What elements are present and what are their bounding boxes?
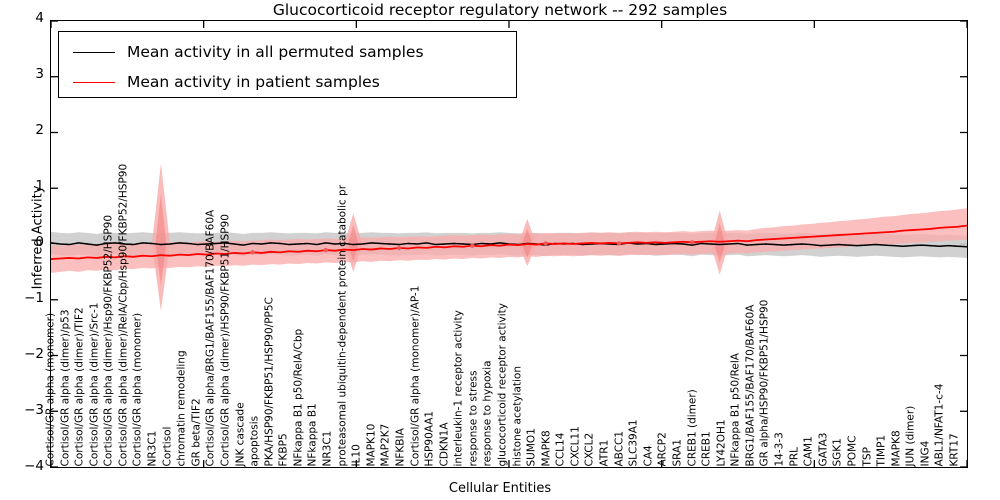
y-tick-label: −1 xyxy=(0,292,44,306)
legend-label-permuted: Mean activity in all permuted samples xyxy=(127,43,424,61)
legend-item-permuted: Mean activity in all permuted samples xyxy=(67,37,508,67)
y-tick-label: 4 xyxy=(0,12,44,26)
legend-label-patient: Mean activity in patient samples xyxy=(127,73,380,91)
y-tick-label: 1 xyxy=(0,180,44,194)
y-tick-label: −4 xyxy=(0,460,44,474)
chart-legend: Mean activity in all permuted samples Me… xyxy=(58,31,517,98)
legend-swatch-patient xyxy=(73,82,115,83)
y-tick-label: 2 xyxy=(0,124,44,138)
legend-item-patient: Mean activity in patient samples xyxy=(67,67,508,97)
legend-swatch-permuted xyxy=(73,52,115,53)
chart-title: Glucocorticoid receptor regulatory netwo… xyxy=(0,1,1000,19)
y-tick-label: 0 xyxy=(0,236,44,250)
chart-root: Glucocorticoid receptor regulatory netwo… xyxy=(0,0,1000,500)
x-axis-label: Cellular Entities xyxy=(0,481,1000,496)
y-tick-label: −2 xyxy=(0,348,44,362)
y-tick-label: 3 xyxy=(0,68,44,82)
y-tick-label: −3 xyxy=(0,404,44,418)
